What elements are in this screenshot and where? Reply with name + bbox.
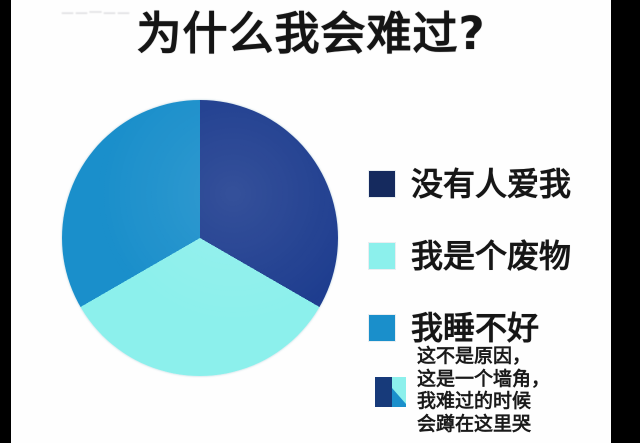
legend-item-no-one-loves-me[interactable]: 没有人爱我	[368, 148, 611, 220]
legend-item-label: 我睡不好	[411, 311, 539, 345]
chart-paper: ——一—— 为什么我会难过? 没有人爱我 我是个废物 我睡不好	[11, 0, 611, 443]
legend-swatch-icon	[368, 314, 396, 342]
pie-slices	[62, 100, 338, 376]
chart-legend: 没有人爱我 我是个废物 我睡不好	[368, 148, 611, 364]
screenshot-canvas: ——一—— 为什么我会难过? 没有人爱我 我是个废物 我睡不好	[0, 0, 640, 443]
legend-swatch-icon	[368, 170, 396, 198]
annotation-text-block: 这不是原因， 这是一个墙角， 我难过的时候 会蹲在这里哭	[417, 345, 550, 435]
wall-corner-icon	[375, 377, 406, 407]
legend-swatch-icon	[368, 242, 396, 270]
annotation-line: 我难过的时候	[417, 390, 550, 413]
chart-title: 为什么我会难过?	[11, 6, 611, 62]
chart-annotation: 这不是原因， 这是一个墙角， 我难过的时候 会蹲在这里哭	[368, 345, 611, 435]
annotation-line: 这是一个墙角，	[417, 368, 550, 391]
pie-chart	[62, 100, 338, 376]
wall-corner-svg	[375, 377, 406, 407]
annotation-line: 这不是原因，	[417, 345, 550, 368]
legend-item-label: 我是个废物	[411, 239, 571, 273]
legend-item-i-am-useless[interactable]: 我是个废物	[368, 220, 611, 292]
legend-item-label: 没有人爱我	[411, 167, 571, 201]
annotation-line: 会蹲在这里哭	[417, 413, 550, 436]
